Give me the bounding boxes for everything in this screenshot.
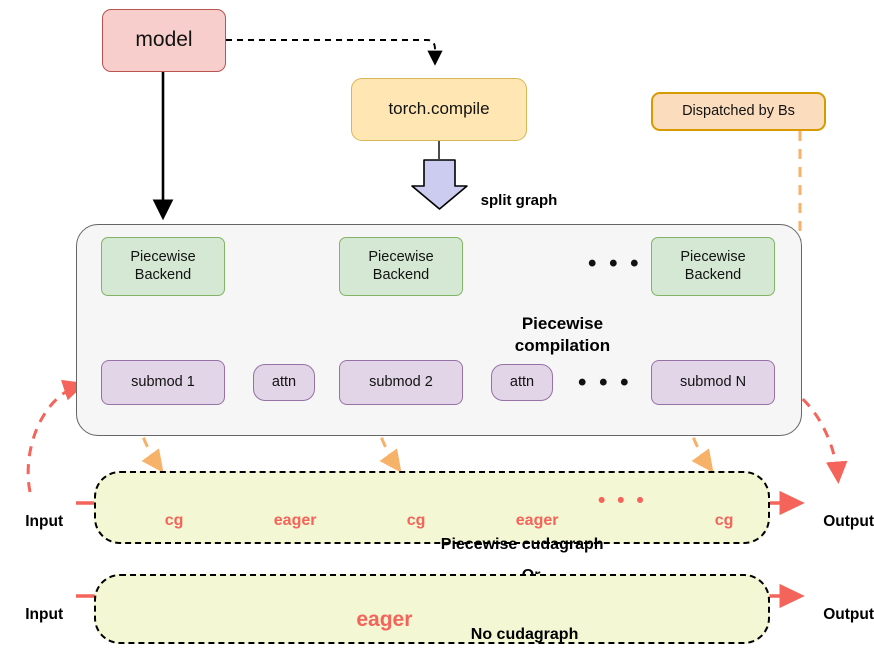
attn-label-2: attn bbox=[510, 374, 534, 391]
output-top-text: Output bbox=[823, 513, 874, 530]
submod-ellipsis: • • • bbox=[578, 369, 632, 397]
edge-input-to-submod1 bbox=[28, 385, 80, 492]
split-graph-label: split graph bbox=[464, 175, 557, 226]
submod-label-n: submod N bbox=[680, 374, 746, 391]
no-cudagraph-label: No cudagraph bbox=[453, 608, 578, 662]
input-label-bottom: Input bbox=[8, 588, 63, 642]
submod-label-2: submod 2 bbox=[369, 374, 433, 391]
piecewise-backend-label-2: PiecewiseBackend bbox=[368, 249, 433, 283]
attn-node-1[interactable]: attn bbox=[253, 364, 315, 401]
model-label: model bbox=[135, 28, 192, 53]
submod-label-1: submod 1 bbox=[131, 374, 195, 391]
model-node[interactable]: model bbox=[102, 9, 226, 72]
submod-node-1[interactable]: submod 1 bbox=[101, 360, 225, 405]
output-label-bottom: Output bbox=[806, 588, 874, 642]
output-bottom-text: Output bbox=[823, 606, 874, 623]
torch-compile-node[interactable]: torch.compile bbox=[351, 78, 527, 141]
submod-node-n[interactable]: submod N bbox=[651, 360, 775, 405]
diagram-canvas: model torch.compile Dispatched by Bs Pie… bbox=[0, 0, 874, 663]
piecewise-backend-label-1: PiecewiseBackend bbox=[130, 249, 195, 283]
input-label-top: Input bbox=[8, 495, 63, 549]
edge-model-to-torchcompile bbox=[226, 40, 435, 62]
dispatched-by-bs-label: Dispatched by Bs bbox=[682, 103, 795, 120]
cudagraph-step-eager-1: eager bbox=[256, 494, 316, 548]
cudagraph-step-ellipsis: • • • bbox=[598, 489, 647, 513]
split-graph-text: split graph bbox=[481, 192, 558, 209]
submod-node-2[interactable]: submod 2 bbox=[339, 360, 463, 405]
dispatched-by-bs-node[interactable]: Dispatched by Bs bbox=[651, 92, 826, 131]
attn-node-2[interactable]: attn bbox=[491, 364, 553, 401]
cudagraph-step-cg-2: cg bbox=[389, 494, 425, 548]
output-label-top: Output bbox=[806, 495, 874, 549]
cudagraph-step-cg-1: cg bbox=[147, 494, 183, 548]
piecewise-backend-node-2[interactable]: PiecewiseBackend bbox=[339, 237, 463, 296]
torch-compile-label: torch.compile bbox=[388, 99, 489, 119]
eager-step-label: eager bbox=[333, 584, 412, 656]
piecewise-backend-node-1[interactable]: PiecewiseBackend bbox=[101, 237, 225, 296]
split-graph-arrow-icon bbox=[412, 160, 467, 209]
backend-ellipsis: • • • bbox=[588, 250, 642, 278]
no-cudagraph-box bbox=[94, 574, 770, 644]
attn-label-1: attn bbox=[272, 374, 296, 391]
piecewise-compilation-line1: Piecewise bbox=[522, 314, 603, 333]
no-cudagraph-text: No cudagraph bbox=[471, 626, 579, 643]
piecewise-backend-label-n: PiecewiseBackend bbox=[680, 249, 745, 283]
input-top-text: Input bbox=[25, 513, 63, 530]
piecewise-compilation-line2: compilation bbox=[515, 336, 610, 355]
input-bottom-text: Input bbox=[25, 606, 63, 623]
cudagraph-step-cg-n: cg bbox=[697, 494, 733, 548]
piecewise-backend-node-n[interactable]: PiecewiseBackend bbox=[651, 237, 775, 296]
